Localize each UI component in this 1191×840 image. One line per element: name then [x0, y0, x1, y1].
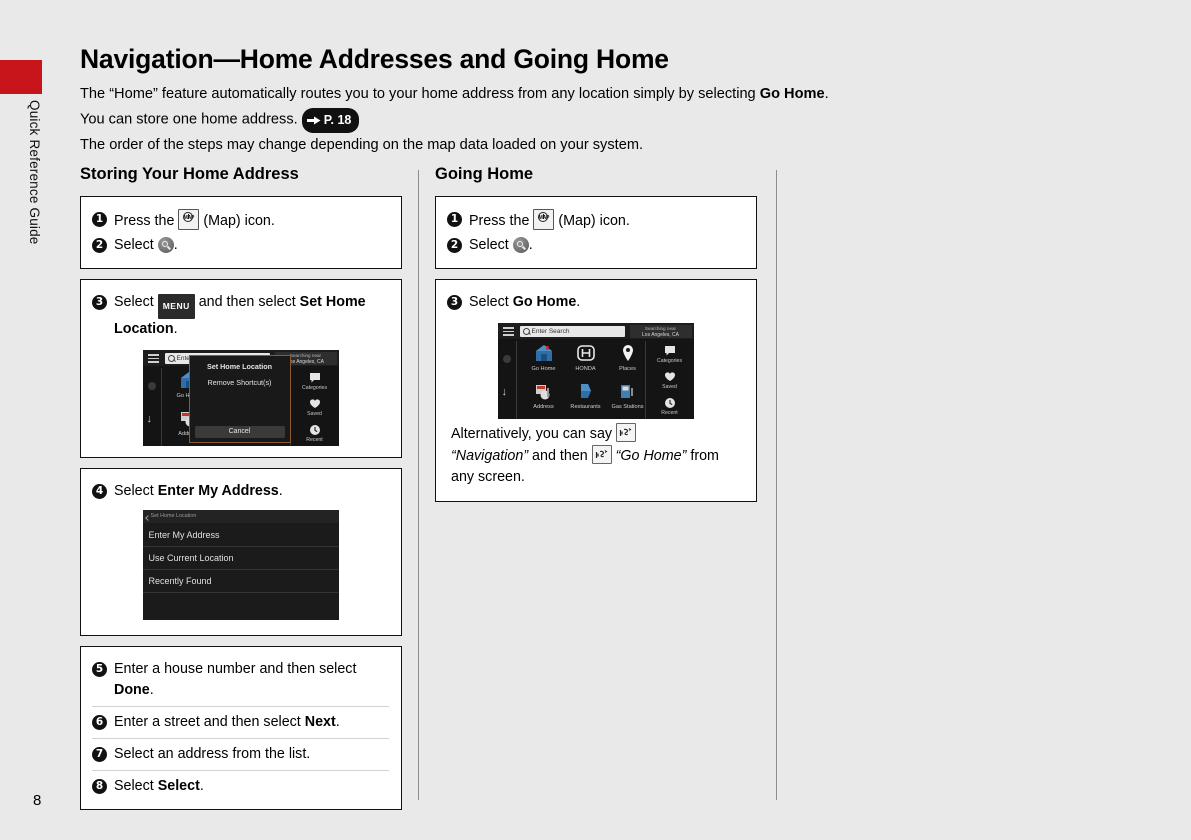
nav-compass-dot[interactable] — [148, 382, 156, 390]
intro-line-2-text: You can store one home address. — [80, 111, 302, 127]
honda-icon — [575, 343, 597, 365]
column-storing-home-address: Storing Your Home Address 1 Press the MA… — [80, 165, 402, 820]
step-text-post: . — [529, 237, 533, 253]
popup-cancel-button[interactable]: Cancel — [195, 426, 285, 438]
left-box-step-4: 4 Select Enter My Address. Set Home Loca… — [80, 468, 402, 636]
step-text-bold: Go Home — [513, 294, 577, 310]
step-text-post: . — [150, 682, 154, 698]
rail-item-label: Saved — [307, 411, 322, 417]
step-text-pre: Press the — [114, 213, 178, 229]
divider — [92, 738, 389, 739]
step-text-pre: Select — [114, 294, 158, 310]
alt-text-a: Alternatively, you can say — [451, 426, 616, 442]
rail-item-label: Categories — [302, 385, 327, 391]
step-item: 2 Select . — [447, 235, 744, 256]
step-text: Select Select. — [114, 776, 389, 797]
pin-icon — [617, 343, 639, 365]
mailbox-icon — [533, 381, 555, 403]
gas-pump-icon — [617, 381, 639, 403]
nav-left-rail: ↓ — [498, 341, 517, 419]
step-text: Select Enter My Address. — [114, 481, 389, 502]
step-text-bold: Done — [114, 682, 150, 698]
rail-item-label: Categories — [657, 358, 682, 364]
hamburger-menu-icon[interactable] — [503, 327, 514, 336]
right-box-step-3: 3 Select Go Home. Enter Search Searching… — [435, 279, 757, 502]
step-text-pre: Select — [469, 294, 513, 310]
rail-item-saved[interactable]: Saved — [646, 371, 694, 390]
step-item: 4 Select Enter My Address. — [92, 481, 389, 502]
rail-item-recent[interactable]: Recent — [646, 397, 694, 416]
step-number: 2 — [447, 238, 462, 253]
step-text-post: (Map) icon. — [199, 213, 274, 229]
page-number: 8 — [33, 792, 41, 809]
nav-home-screenshot: Enter Search Searching nearLos Angeles, … — [498, 323, 694, 419]
step-text-mid: and then select — [195, 294, 300, 310]
column-divider-2 — [776, 170, 777, 800]
map-hardware-icon[interactable]: MAP — [533, 209, 554, 230]
divider — [92, 770, 389, 771]
step-item: 6 Enter a street and then select Next. — [92, 712, 389, 733]
search-round-icon[interactable] — [158, 237, 174, 253]
rail-item-label: Recent — [661, 410, 677, 416]
page-reference-label: P. 18 — [324, 109, 352, 133]
step-number: 5 — [92, 662, 107, 677]
step-text-pre: Enter a street and then select — [114, 714, 305, 730]
step-text-bold: Enter My Address — [158, 483, 279, 499]
step-text-post: . — [174, 321, 178, 337]
list-item-empty — [143, 593, 339, 616]
step-text: Press the MAP (Map) icon. — [114, 209, 389, 232]
step-text-post: . — [336, 714, 340, 730]
step-number: 1 — [447, 212, 462, 227]
step-number: 3 — [447, 295, 462, 310]
sidebar-chapter-label: Quick Reference Guide — [0, 100, 42, 245]
map-hardware-icon[interactable]: MAP — [178, 209, 199, 230]
page-title: Navigation—Home Addresses and Going Home — [80, 44, 1140, 75]
step-text-pre: Select — [114, 237, 158, 253]
searching-near-line2: Los Angeles, CA — [630, 332, 692, 338]
step-item: 1 Press the MAP (Map) icon. — [447, 209, 744, 232]
rail-item-recent[interactable]: Recent — [291, 424, 339, 443]
search-round-icon[interactable] — [513, 237, 529, 253]
shortcut-popup-dialog: Set Home Location Remove Shortcut(s) Can… — [189, 355, 291, 443]
hamburger-menu-icon[interactable] — [148, 354, 159, 363]
step-text-post: (Map) icon. — [554, 213, 629, 229]
step-text-bold: Select — [158, 778, 200, 794]
step-text-pre: Select — [114, 778, 158, 794]
popup-item-set-home-location[interactable]: Set Home Location — [190, 356, 290, 376]
intro-line-1-end: . — [825, 86, 829, 102]
step-text-post: . — [200, 778, 204, 794]
step-number: 3 — [92, 295, 107, 310]
right-box-steps-1-2: 1 Press the MAP (Map) icon. 2 Select . — [435, 196, 757, 269]
list-screen-title: Set Home Location — [143, 510, 339, 523]
nav-right-rail: Categories Saved Recent — [290, 368, 339, 446]
left-box-steps-5-8: 5 Enter a house number and then select D… — [80, 646, 402, 810]
heart-icon — [664, 371, 676, 383]
list-item[interactable]: Recently Found — [143, 570, 339, 593]
step-text-pre: Select — [114, 483, 158, 499]
left-column-heading: Storing Your Home Address — [80, 165, 402, 184]
nav-right-rail: Categories Saved Recent — [645, 341, 694, 419]
search-icon — [168, 355, 175, 362]
intro-line-1: The “Home” feature automatically routes … — [80, 83, 1140, 107]
step-text-post: . — [576, 294, 580, 310]
rail-item-categories[interactable]: Categories — [291, 372, 339, 391]
list-item[interactable]: Use Current Location — [143, 547, 339, 570]
go-home-term: Go Home — [760, 86, 825, 102]
step-text: Select Go Home. — [469, 292, 744, 313]
intro-paragraph: The “Home” feature automatically routes … — [80, 83, 1140, 158]
clock-icon — [309, 424, 321, 436]
step-item: 1 Press the MAP (Map) icon. — [92, 209, 389, 232]
step-text: Select MENU and then select Set Home Loc… — [114, 292, 389, 340]
step-item: 8 Select Select. — [92, 776, 389, 797]
chapter-color-tab — [0, 60, 42, 94]
intro-line-2: You can store one home address. P. 18 — [80, 108, 1140, 134]
page-content: Navigation—Home Addresses and Going Home… — [80, 44, 1140, 159]
step-number: 2 — [92, 238, 107, 253]
popup-item-remove-shortcuts[interactable]: Remove Shortcut(s) — [190, 376, 290, 392]
list-item[interactable]: Enter My Address — [143, 524, 339, 547]
nav-compass-dot[interactable] — [503, 355, 511, 363]
column-going-home: Going Home 1 Press the MAP (Map) icon. 2… — [435, 165, 757, 512]
rail-item-label: Recent — [306, 437, 322, 443]
step-text: Enter a house number and then select Don… — [114, 659, 389, 701]
step-item: 3 Select Go Home. — [447, 292, 744, 313]
column-divider-1 — [418, 170, 419, 800]
nav-tile-grid: Go Home HONDA Places — [518, 341, 644, 419]
step-text-post: . — [279, 483, 283, 499]
step-number: 8 — [92, 779, 107, 794]
nav-search-placeholder: Enter Search — [532, 328, 570, 335]
intro-line-1-text: The “Home” feature automatically routes … — [80, 86, 760, 102]
house-icon — [533, 343, 555, 365]
step-number: 6 — [92, 715, 107, 730]
step-item: 3 Select MENU and then select Set Home L… — [92, 292, 389, 340]
left-box-steps-1-2: 1 Press the MAP (Map) icon. 2 Select . — [80, 196, 402, 269]
nav-down-arrow-icon[interactable]: ↓ — [147, 414, 153, 424]
step-text: Select an address from the list. — [114, 744, 389, 765]
step-text: Press the MAP (Map) icon. — [469, 209, 744, 232]
step-number: 4 — [92, 484, 107, 499]
intro-line-3: The order of the steps may change depend… — [80, 134, 1140, 158]
nav-home-with-popup-screenshot: Enter Search Searching nearLos Angeles, … — [143, 350, 339, 446]
heart-icon — [309, 398, 321, 410]
clock-icon — [664, 397, 676, 409]
arrow-right-icon — [307, 116, 321, 125]
nav-search-field[interactable]: Enter Search — [520, 326, 625, 337]
step-text-post: . — [174, 237, 178, 253]
alternative-voice-note: Alternatively, you can say “Navigation” … — [447, 421, 744, 492]
search-icon — [523, 328, 530, 335]
alt-text-gohome-phrase: “Go Home” — [616, 448, 687, 464]
right-column-heading: Going Home — [435, 165, 757, 184]
rail-item-categories[interactable]: Categories — [646, 345, 694, 364]
talk-button-icon[interactable] — [616, 423, 636, 442]
rail-item-label: Saved — [662, 384, 677, 390]
step-text-pre: Select — [469, 237, 513, 253]
nav-left-rail: ↓ — [143, 368, 162, 446]
step-text-pre: Press the — [469, 213, 533, 229]
talk-button-icon[interactable] — [592, 445, 612, 464]
step-text-bold: Next — [305, 714, 336, 730]
alt-text-c: and then — [528, 448, 592, 464]
categories-icon — [309, 372, 321, 384]
step-text: Enter a street and then select Next. — [114, 712, 389, 733]
restaurant-icon — [575, 381, 597, 403]
divider — [92, 706, 389, 707]
menu-button-icon[interactable]: MENU — [158, 294, 195, 320]
left-box-step-3: 3 Select MENU and then select Set Home L… — [80, 279, 402, 458]
step-text: Select . — [114, 235, 389, 256]
step-item: 7 Select an address from the list. — [92, 744, 389, 765]
step-item: 2 Select . — [92, 235, 389, 256]
nav-down-arrow-icon[interactable]: ↓ — [502, 387, 508, 397]
page-reference-badge[interactable]: P. 18 — [302, 108, 360, 134]
categories-icon — [664, 345, 676, 357]
rail-item-saved[interactable]: Saved — [291, 398, 339, 417]
alt-text-navigation-phrase: “Navigation” — [451, 448, 528, 464]
searching-near-badge[interactable]: Searching nearLos Angeles, CA — [630, 325, 692, 338]
two-column-body: Storing Your Home Address 1 Press the MA… — [80, 165, 1140, 805]
set-home-location-list-screenshot: Set Home Location Enter My Address Use C… — [143, 510, 339, 620]
step-number: 1 — [92, 212, 107, 227]
step-text: Select . — [469, 235, 744, 256]
step-text-pre: Enter a house number and then select — [114, 661, 356, 677]
step-item: 5 Enter a house number and then select D… — [92, 659, 389, 701]
step-number: 7 — [92, 747, 107, 762]
